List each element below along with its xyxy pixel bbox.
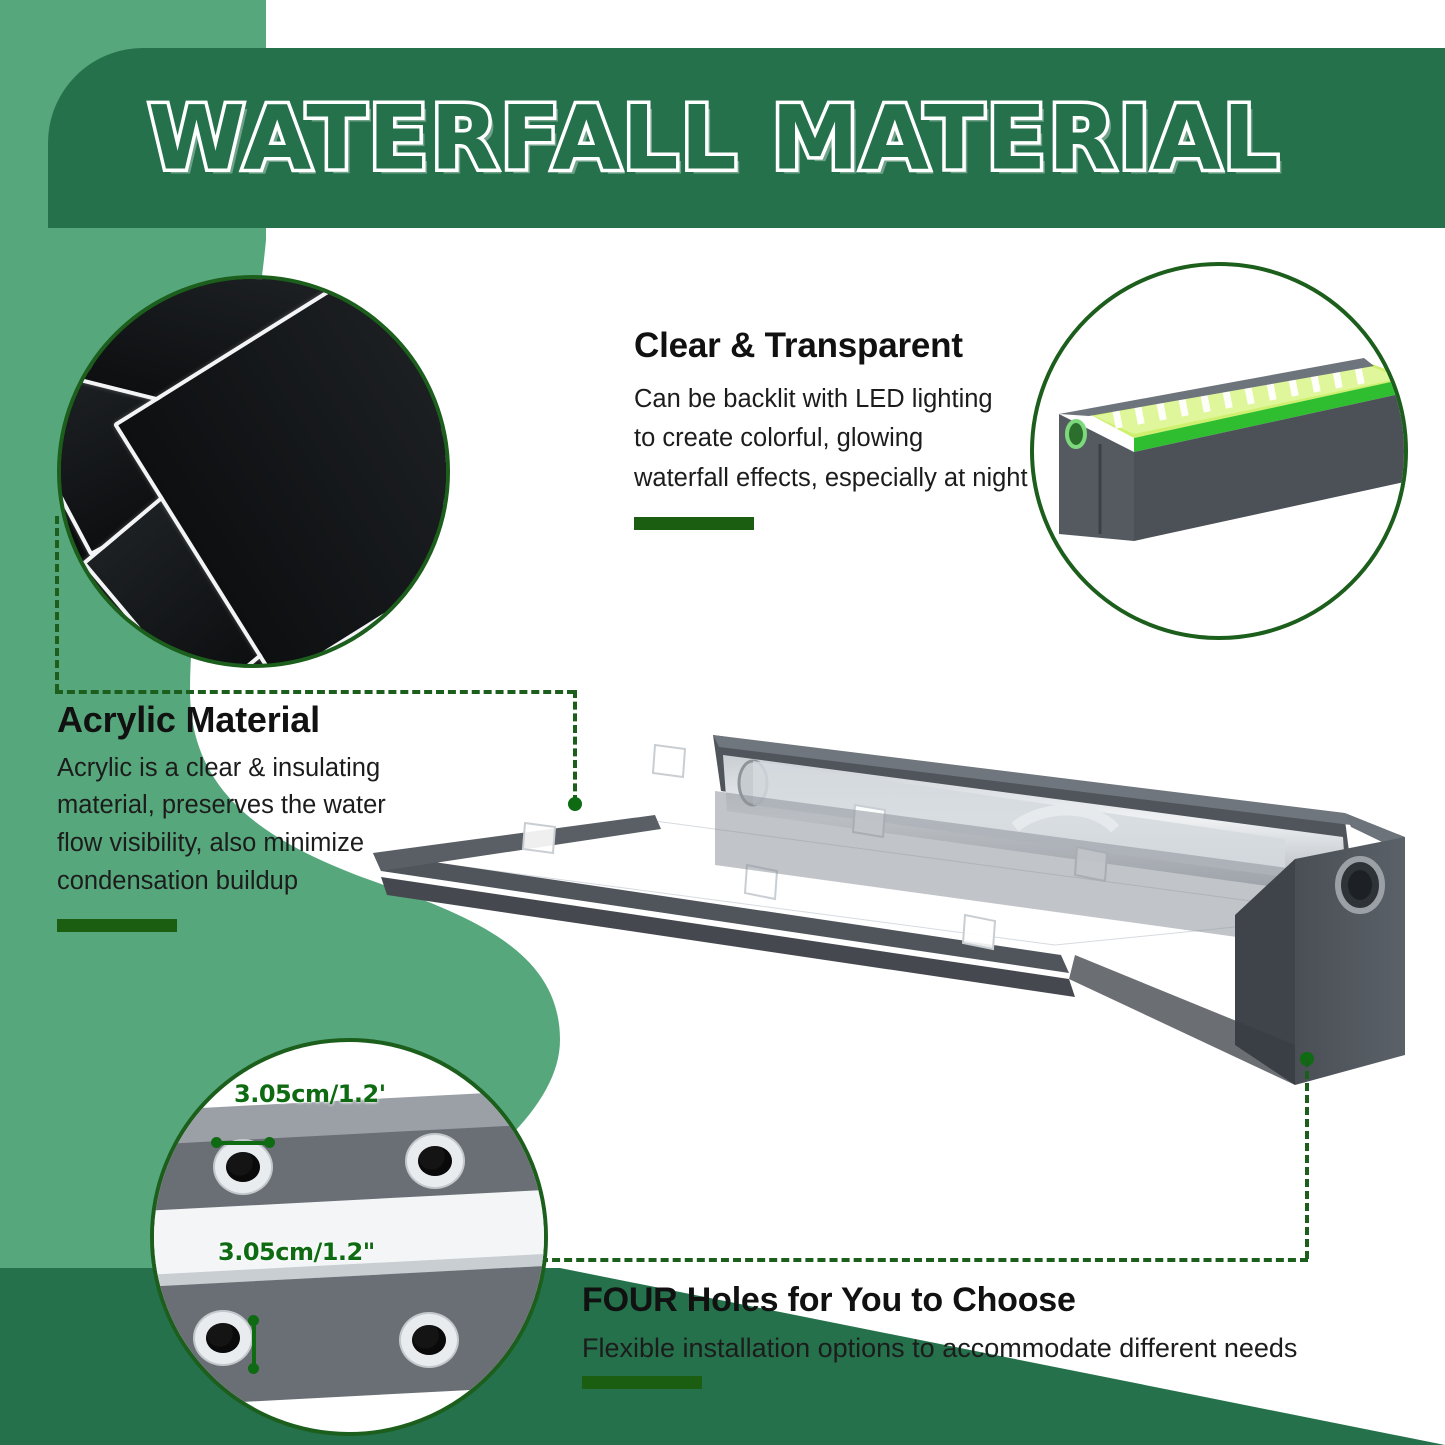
feature-body-line: Flexible installation options to accommo…: [582, 1331, 1342, 1366]
side-inlet-port-inner: [1348, 870, 1372, 900]
standoff-clip: [963, 915, 995, 949]
feature-title: FOUR Holes for You to Choose: [582, 1282, 1342, 1319]
accent-bar: [634, 517, 754, 530]
header-banner: WATERFALL MATERIAL: [48, 48, 1445, 228]
mounting-hole: [418, 1146, 452, 1176]
waterfall-spillway-drawing: [355, 615, 1405, 1115]
accent-bar: [582, 1376, 702, 1389]
product-illustration: [355, 615, 1405, 1115]
dimension-marker-vertical: [252, 1320, 256, 1368]
side-inlet-port: [1067, 421, 1085, 447]
connector-holes-vertical: [1305, 1059, 1309, 1259]
dimension-marker-dot-right: [264, 1137, 275, 1148]
connector-acrylic-vertical: [55, 516, 59, 692]
feature-body: Can be backlit with LED lighting to crea…: [634, 380, 1034, 499]
dimension-label-bottom: 3.05cm/1.2": [218, 1238, 375, 1266]
dimension-marker-dot-top: [248, 1315, 259, 1326]
connector-holes-horizontal: [540, 1258, 1308, 1262]
feature-body-line: to create colorful, glowing: [634, 419, 1034, 459]
dimension-marker-dot-left: [211, 1137, 222, 1148]
dimension-marker-horizontal: [214, 1141, 270, 1145]
standoff-clip: [653, 745, 685, 777]
feature-title: Clear & Transparent: [634, 327, 1034, 366]
led-spillway-drawing: [1034, 266, 1404, 636]
mounting-hole: [226, 1152, 260, 1182]
accent-bar: [57, 919, 177, 932]
standoff-clip: [523, 823, 555, 853]
mounting-hole: [206, 1323, 240, 1353]
dimension-label-top: 3.05cm/1.2': [234, 1080, 386, 1108]
acrylic-sheets-photo: [57, 275, 450, 668]
page-title: WATERFALL MATERIAL: [148, 87, 1281, 190]
mounting-hole: [412, 1325, 446, 1355]
feature-body-line: Can be backlit with LED lighting: [634, 380, 1034, 420]
four-holes-photo: 3.05cm/1.2' 3.05cm/1.2": [150, 1038, 548, 1436]
infographic-canvas: WATERFALL MATERIAL Clear & Transparent C…: [0, 0, 1445, 1445]
led-spillway-photo: [1030, 262, 1408, 640]
feature-four-holes: FOUR Holes for You to Choose Flexible in…: [582, 1282, 1342, 1389]
dimension-marker-dot-bottom: [248, 1363, 259, 1374]
feature-body: Flexible installation options to accommo…: [582, 1331, 1342, 1366]
feature-body-line: waterfall effects, especially at night: [634, 459, 1034, 499]
feature-clear-transparent: Clear & Transparent Can be backlit with …: [634, 327, 1034, 530]
